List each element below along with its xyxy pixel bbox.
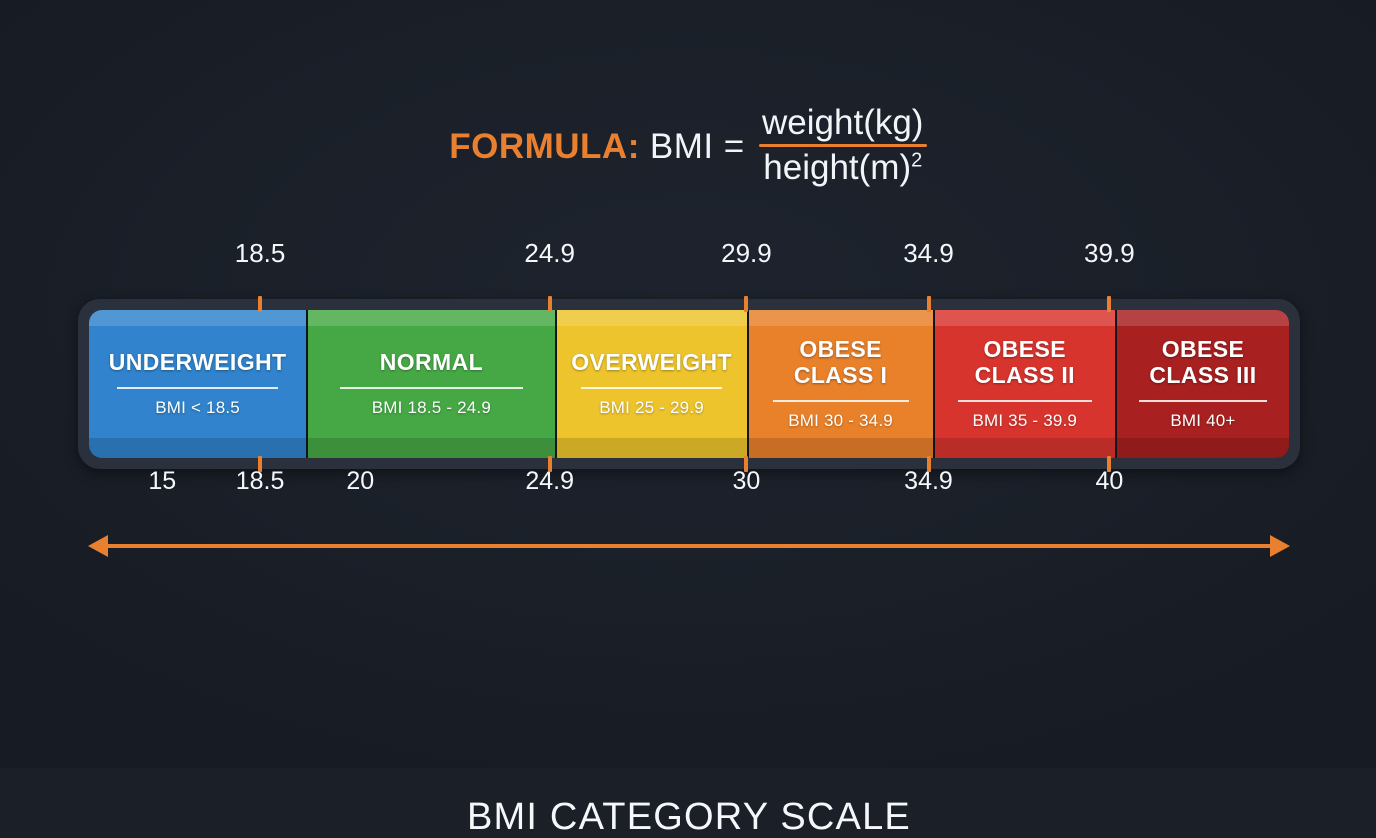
bmi-segment[interactable]: OBESE CLASS IIIBMI 40+: [1115, 310, 1289, 458]
bottom-tick-label: 24.9: [525, 469, 574, 494]
top-tick-label: 39.9: [1084, 240, 1135, 266]
boundary-marker-top: [744, 296, 748, 312]
bottom-tick: 24.9: [525, 469, 574, 494]
bottom-tick: 30: [733, 469, 761, 494]
bmi-segment-range: BMI 18.5 - 24.9: [372, 398, 491, 418]
formula-fraction-bar: [759, 144, 927, 147]
bottom-tick-label: 40: [1095, 469, 1123, 494]
bmi-segment-divider: [1139, 400, 1266, 402]
chart-caption: BMI CATEGORY SCALE: [78, 798, 1300, 836]
category-bar-frame: UNDERWEIGHTBMI < 18.5NORMALBMI 18.5 - 24…: [78, 299, 1300, 469]
formula-denominator: height(m)2: [763, 148, 922, 187]
bmi-segment-range: BMI 40+: [1170, 411, 1235, 431]
top-tick: 24.9: [524, 240, 575, 272]
top-tick-label: 18.5: [235, 240, 286, 266]
bmi-segment-name: OBESE CLASS II: [975, 337, 1075, 389]
formula-left-side: BMI =: [650, 129, 745, 164]
formula-denominator-text: height(m): [763, 148, 911, 187]
bottom-tick: 34.9: [904, 469, 953, 494]
top-tick-label: 24.9: [524, 240, 575, 266]
bottom-tick-label: 34.9: [904, 469, 953, 494]
formula-denominator-exponent: 2: [911, 150, 922, 172]
bmi-scale: 18.524.929.934.939.9 UNDERWEIGHTBMI < 18…: [78, 240, 1300, 560]
bottom-tick-label: 20: [346, 469, 374, 494]
arrow-head-left-icon: [88, 535, 108, 557]
bmi-segment-name: OBESE CLASS I: [794, 337, 888, 389]
bmi-segment-range: BMI < 18.5: [155, 398, 240, 418]
bmi-segment[interactable]: UNDERWEIGHTBMI < 18.5: [89, 310, 306, 458]
bottom-tick: 20: [346, 469, 374, 494]
bmi-segment-divider: [117, 387, 278, 389]
boundary-marker-bottom: [258, 456, 262, 472]
boundary-marker-top: [927, 296, 931, 312]
bmi-segment[interactable]: OBESE CLASS IIBMI 35 - 39.9: [933, 310, 1115, 458]
bmi-segment-range: BMI 30 - 34.9: [788, 411, 893, 431]
bmi-segment-name: UNDERWEIGHT: [109, 350, 287, 376]
bmi-segment-divider: [340, 387, 522, 389]
scale-axis-arrow: [88, 533, 1290, 559]
top-tick: 18.5: [235, 240, 286, 272]
top-tick: 29.9: [721, 240, 772, 272]
bmi-segment-divider: [581, 387, 722, 389]
bmi-segment-name: OBESE CLASS III: [1149, 337, 1256, 389]
bottom-tick: 18.5: [236, 469, 285, 494]
bmi-segment-name: NORMAL: [380, 350, 483, 376]
bottom-tick-label: 30: [733, 469, 761, 494]
bottom-tick: 40: [1095, 469, 1123, 494]
boundary-marker-bottom: [927, 456, 931, 472]
bmi-segment[interactable]: OVERWEIGHTBMI 25 - 29.9: [555, 310, 747, 458]
boundary-marker-bottom: [744, 456, 748, 472]
top-tick: 39.9: [1084, 240, 1135, 272]
bottom-tick-label: 15: [148, 469, 176, 494]
top-tick-label: 34.9: [903, 240, 954, 266]
top-tick-label: 29.9: [721, 240, 772, 266]
bmi-segment[interactable]: OBESE CLASS IBMI 30 - 34.9: [747, 310, 933, 458]
bmi-segment-name: OVERWEIGHT: [571, 350, 732, 376]
bottom-tick-axis: 1518.52024.93034.940: [78, 469, 1300, 529]
bmi-segment-divider: [958, 400, 1091, 402]
boundary-marker-bottom: [1107, 456, 1111, 472]
formula-label: FORMULA:: [449, 129, 640, 164]
top-tick: 34.9: [903, 240, 954, 272]
bmi-segment-range: BMI 25 - 29.9: [599, 398, 704, 418]
category-bar: UNDERWEIGHTBMI < 18.5NORMALBMI 18.5 - 24…: [89, 310, 1289, 458]
infographic-canvas: FORMULA: BMI = weight(kg) height(m)2 18.…: [0, 0, 1376, 768]
boundary-marker-top: [258, 296, 262, 312]
boundary-marker-top: [1107, 296, 1111, 312]
bottom-tick-label: 18.5: [236, 469, 285, 494]
bmi-segment-range: BMI 35 - 39.9: [972, 411, 1077, 431]
bmi-formula: FORMULA: BMI = weight(kg) height(m)2: [0, 104, 1376, 188]
formula-numerator: weight(kg): [762, 103, 923, 142]
formula-fraction: weight(kg) height(m)2: [759, 103, 927, 187]
bottom-tick: 15: [148, 469, 176, 494]
top-tick-axis: 18.524.929.934.939.9: [78, 240, 1300, 302]
boundary-marker-top: [548, 296, 552, 312]
arrow-head-right-icon: [1270, 535, 1290, 557]
boundary-marker-bottom: [548, 456, 552, 472]
axis-line: [106, 544, 1272, 548]
bmi-segment[interactable]: NORMALBMI 18.5 - 24.9: [306, 310, 554, 458]
bmi-segment-divider: [773, 400, 909, 402]
